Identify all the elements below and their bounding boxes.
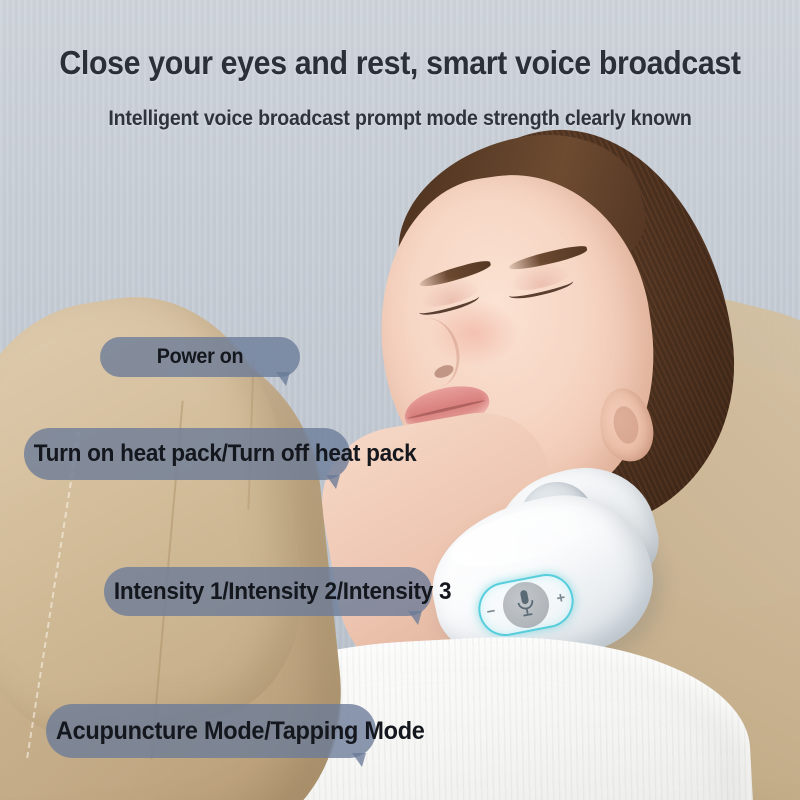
callout-intensity: Intensity 1/Intensity 2/Intensity 3	[104, 567, 432, 616]
callout-heat-pack: Turn on heat pack/Turn off heat pack	[24, 428, 350, 480]
product-banner-scene: − + Close your eyes and rest, smart voic…	[0, 0, 800, 800]
subheadline: Intelligent voice broadcast prompt mode …	[28, 107, 772, 131]
callout-power-on: Power on	[100, 337, 300, 377]
callout-label: Power on	[106, 345, 294, 369]
callout-mode: Acupuncture Mode/Tapping Mode	[46, 704, 376, 758]
callout-label: Acupuncture Mode/Tapping Mode	[56, 717, 366, 746]
callout-label: Intensity 1/Intensity 2/Intensity 3	[114, 578, 422, 606]
callout-label: Turn on heat pack/Turn off heat pack	[34, 440, 340, 468]
headline: Close your eyes and rest, smart voice br…	[32, 44, 768, 82]
